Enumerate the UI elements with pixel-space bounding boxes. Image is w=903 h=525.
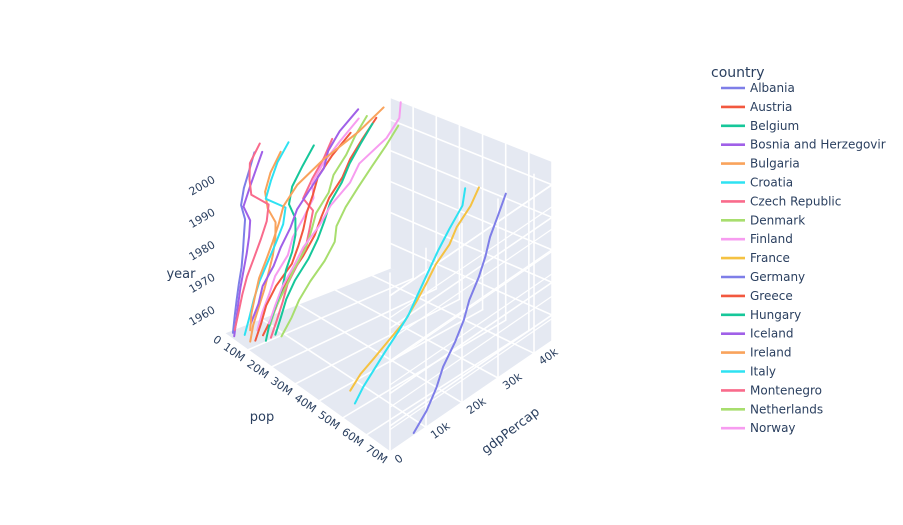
legend-item-label: Germany: [750, 270, 805, 284]
legend-item-label: Albania: [750, 81, 795, 95]
legend-item-label: Netherlands: [750, 402, 823, 416]
legend-item-label: Italy: [750, 365, 776, 379]
axis-title-pop: pop: [250, 410, 274, 425]
plotly-3d-figure: 19601970198019902000010M20M30M40M50M60M7…: [0, 0, 903, 525]
axis-title-year: year: [166, 267, 196, 282]
legend-item-label: Ireland: [750, 346, 792, 360]
legend-item-label: Croatia: [750, 176, 793, 190]
legend-item-label: Denmark: [750, 213, 805, 227]
legend-item-label: Iceland: [750, 327, 793, 341]
legend-item-label: Greece: [750, 289, 793, 303]
legend-item-label: Austria: [750, 100, 792, 114]
legend-item-label: France: [750, 251, 790, 265]
legend-item-label: Bulgaria: [750, 157, 800, 171]
legend-item-label: Norway: [750, 421, 796, 435]
legend-item-label: Belgium: [750, 119, 799, 133]
legend-item-label: Bosnia and Herzegovir: [750, 138, 886, 152]
legend-title: country: [711, 65, 765, 81]
legend-item-label: Hungary: [750, 308, 801, 322]
chart-canvas: 19601970198019902000010M20M30M40M50M60M7…: [0, 0, 903, 525]
legend-item-label: Czech Republic: [750, 194, 841, 208]
legend-item-label: Montenegro: [750, 383, 822, 397]
legend-item-label: Finland: [750, 232, 793, 246]
